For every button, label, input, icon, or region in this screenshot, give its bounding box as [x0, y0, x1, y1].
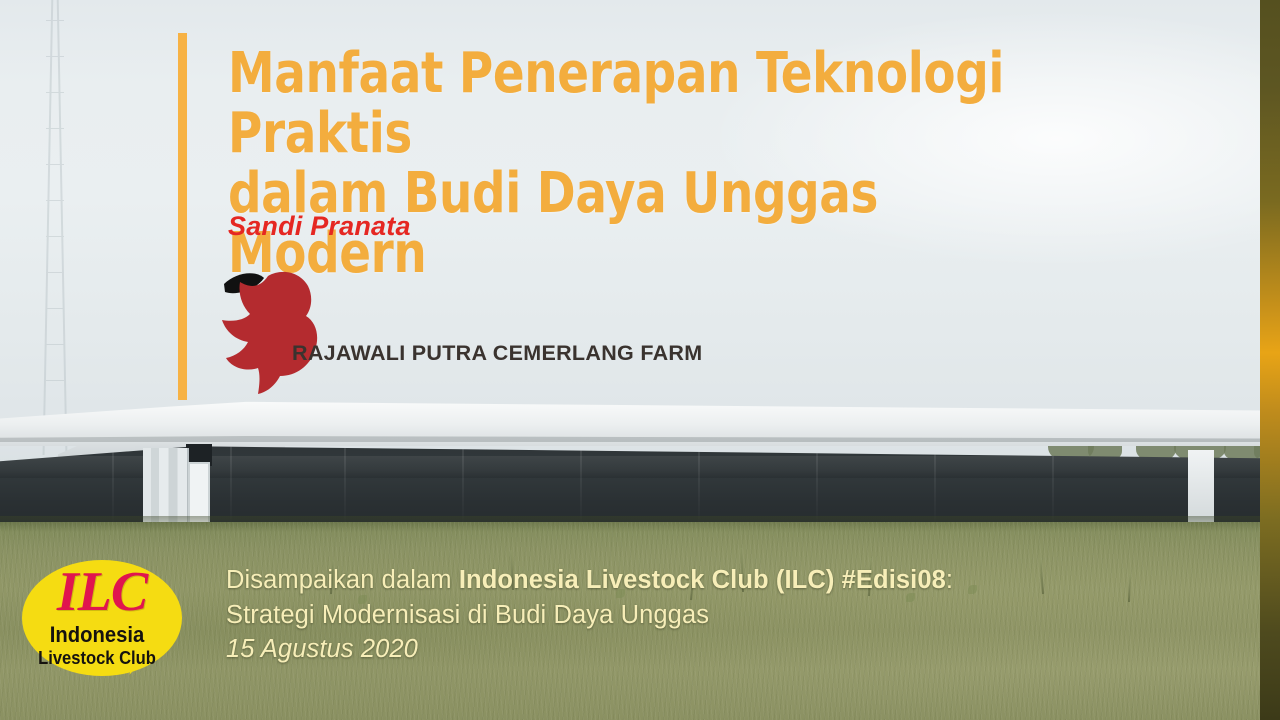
caption-line-3: 15 Agustus 2020	[226, 632, 1106, 667]
title-line-1: Manfaat Penerapan Teknologi Praktis	[228, 44, 1065, 164]
ilc-logo: ILC Indonesia Livestock Club	[22, 560, 198, 692]
author-name: Sandi Pranata	[228, 211, 411, 242]
ilc-subtitle-line-1: Indonesia	[28, 622, 166, 648]
right-accent-band	[1260, 0, 1280, 720]
antenna-tower	[44, 0, 66, 455]
caption-line-2: Strategi Modernisasi di Budi Daya Unggas	[226, 598, 1106, 633]
title-slide: Manfaat Penerapan Teknologi Praktis dala…	[0, 0, 1280, 720]
farm-logo-name: RAJAWALI PUTRA CEMERLANG FARM	[292, 341, 702, 366]
title-accent-bar	[178, 33, 187, 400]
ilc-subtitle-line-2: Livestock Club	[28, 648, 166, 669]
house-door-left	[143, 448, 189, 526]
rajawali-farm-logo	[216, 262, 336, 402]
house-end-cap	[1188, 450, 1214, 526]
caption-line-1: Disampaikan dalam Indonesia Livestock Cl…	[226, 563, 1106, 598]
caption-suffix: :	[946, 566, 953, 594]
page-title: Manfaat Penerapan Teknologi Praktis dala…	[228, 44, 1065, 284]
caption-prefix: Disampaikan dalam	[226, 566, 459, 594]
event-caption: Disampaikan dalam Indonesia Livestock Cl…	[226, 563, 1106, 667]
caption-event-name: Indonesia Livestock Club (ILC) #Edisi08	[459, 566, 946, 594]
ilc-initials: ILC	[22, 564, 182, 620]
